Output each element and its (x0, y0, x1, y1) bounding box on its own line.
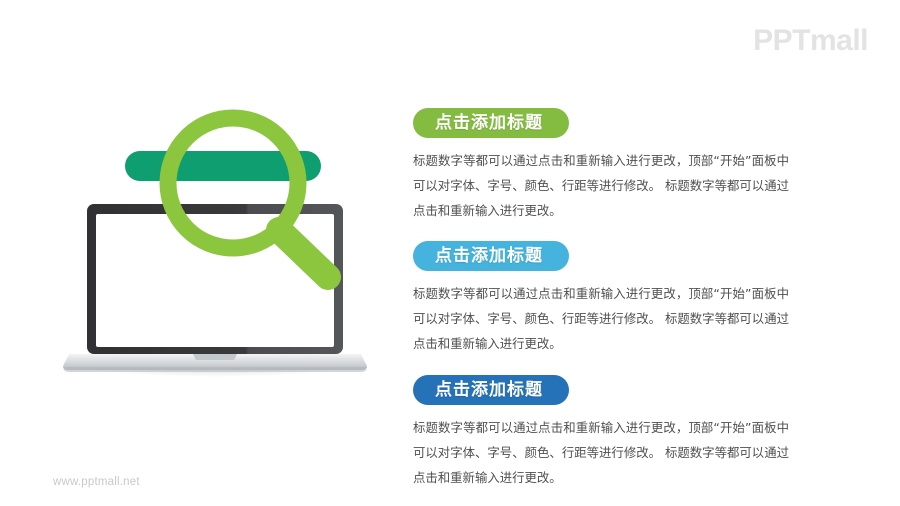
content-block-2: 点击添加标题 标题数字等都可以通过点击和重新输入进行更改，顶部“开始”面板中可以… (413, 241, 808, 356)
block-title-3[interactable]: 点击添加标题 (413, 375, 569, 405)
brand-logo: PPTmall (753, 24, 868, 58)
block-title-2[interactable]: 点击添加标题 (413, 241, 569, 271)
block-body-3[interactable]: 标题数字等都可以通过点击和重新输入进行更改，顶部“开始”面板中可以对字体、字号、… (413, 416, 789, 490)
block-body-1[interactable]: 标题数字等都可以通过点击和重新输入进行更改，顶部“开始”面板中可以对字体、字号、… (413, 149, 789, 223)
laptop-base-notch (193, 354, 237, 360)
footer-url: www.pptmall.net (53, 476, 140, 488)
laptop-base-edge (63, 367, 367, 372)
block-body-2[interactable]: 标题数字等都可以通过点击和重新输入进行更改，顶部“开始”面板中可以对字体、字号、… (413, 282, 789, 356)
content-column: 点击添加标题 标题数字等都可以通过点击和重新输入进行更改，顶部“开始”面板中可以… (413, 108, 808, 490)
block-title-1[interactable]: 点击添加标题 (413, 108, 569, 138)
laptop-search-illustration (55, 108, 375, 380)
content-block-1: 点击添加标题 标题数字等都可以通过点击和重新输入进行更改，顶部“开始”面板中可以… (413, 108, 808, 223)
content-block-3: 点击添加标题 标题数字等都可以通过点击和重新输入进行更改，顶部“开始”面板中可以… (413, 375, 808, 490)
